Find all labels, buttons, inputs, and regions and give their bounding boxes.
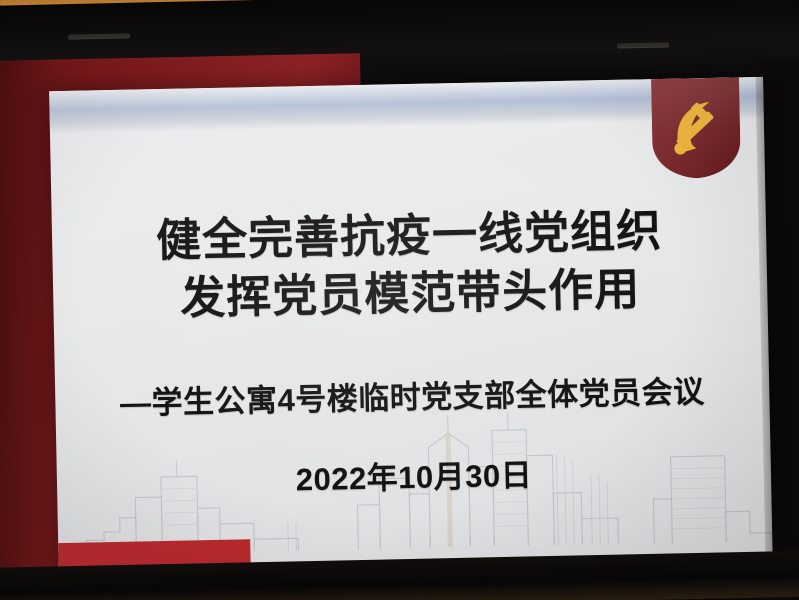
slide-title-line-2: 发挥党员模范带头作用 bbox=[53, 261, 768, 327]
cpc-party-emblem-icon bbox=[651, 77, 741, 179]
slide-title-line-1: 健全完善抗疫一线党组织 bbox=[52, 203, 767, 269]
slide-canvas: 健全完善抗疫一线党组织 发挥党员模范带头作用 —学生公寓4号楼临时党支部全体党员… bbox=[49, 77, 773, 583]
projected-slide: 健全完善抗疫一线党组织 发挥党员模范带头作用 —学生公寓4号楼临时党支部全体党员… bbox=[49, 77, 773, 583]
photo-scene: 健全完善抗疫一线党组织 发挥党员模范带头作用 —学生公寓4号楼临时党支部全体党员… bbox=[0, 0, 799, 600]
